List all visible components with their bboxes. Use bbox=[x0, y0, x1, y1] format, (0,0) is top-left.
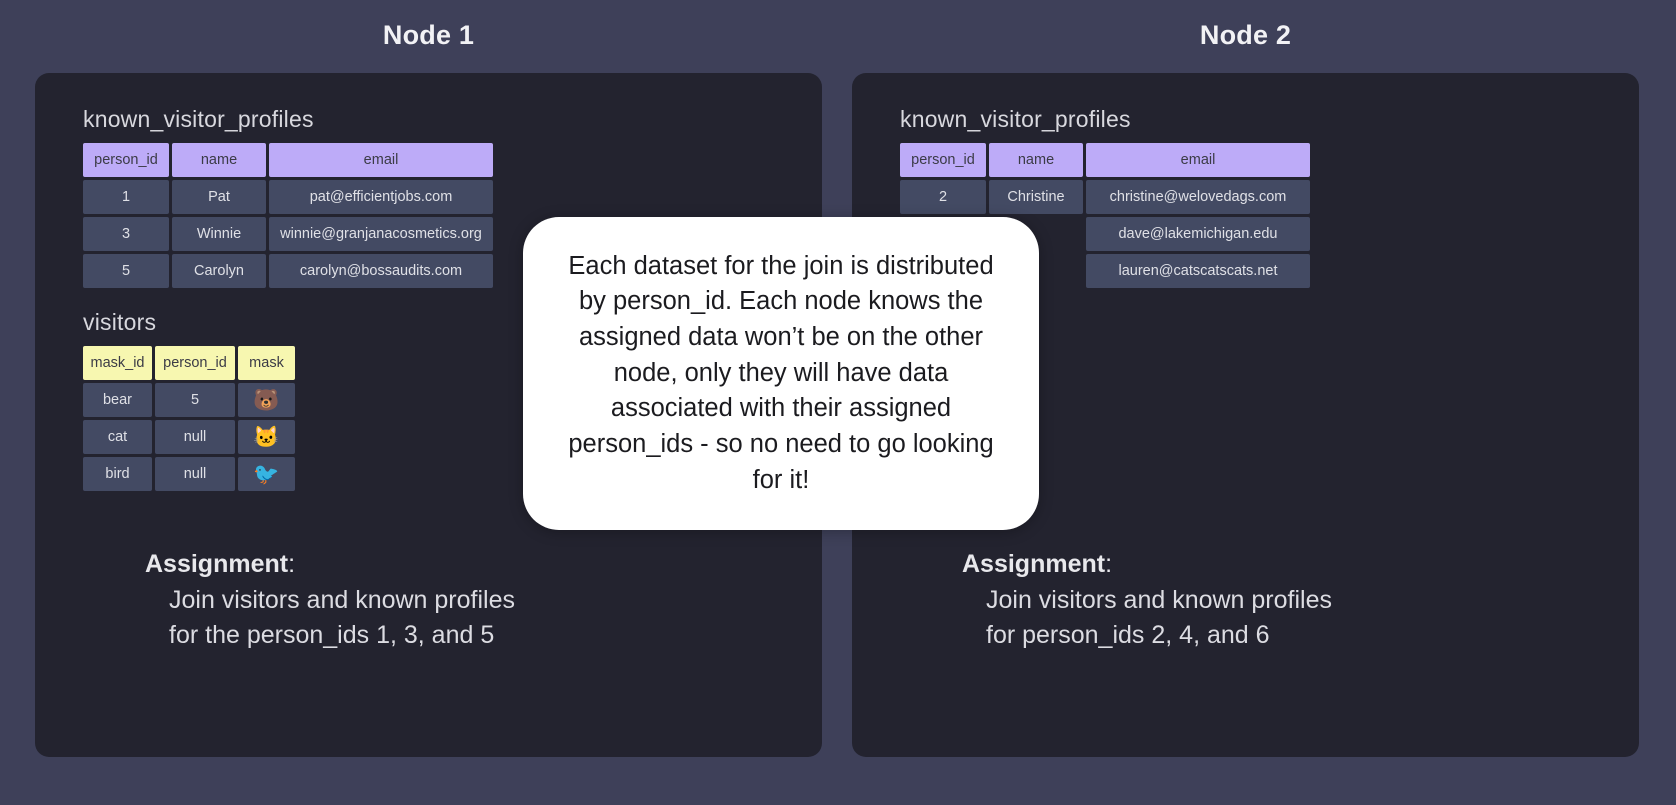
node-2-assignment-heading: Assignment: bbox=[962, 547, 1332, 583]
cell-person-id: 2 bbox=[900, 180, 986, 214]
column-header-person-id: person_id bbox=[155, 346, 235, 380]
node-1-profiles-table-title: known_visitor_profiles bbox=[83, 106, 792, 133]
node-1-visitors-table: mask_id person_id mask bear 5 🐻 cat null bbox=[80, 343, 298, 494]
cell-mask-id: cat bbox=[83, 420, 152, 454]
cell-mask-id: bear bbox=[83, 383, 152, 417]
cell-person-id: null bbox=[155, 420, 235, 454]
cell-name: Carolyn bbox=[172, 254, 266, 288]
table-header-row: person_id name email bbox=[900, 143, 1310, 177]
node-1-profiles-table: person_id name email 1 Pat pat@efficient… bbox=[80, 140, 496, 291]
cell-person-id: null bbox=[155, 457, 235, 491]
callout-text: Each dataset for the join is distributed… bbox=[563, 249, 999, 499]
cell-email: carolyn@bossaudits.com bbox=[269, 254, 493, 288]
column-header-person-id: person_id bbox=[900, 143, 986, 177]
callout-bubble: Each dataset for the join is distributed… bbox=[523, 217, 1039, 530]
table-row: bear 5 🐻 bbox=[83, 383, 295, 417]
column-header-name: name bbox=[172, 143, 266, 177]
bear-face-icon: 🐻 bbox=[238, 383, 295, 417]
table-header-row: mask_id person_id mask bbox=[83, 346, 295, 380]
cell-mask-id: bird bbox=[83, 457, 152, 491]
node-1-assignment: Assignment: Join visitors and known prof… bbox=[145, 547, 515, 654]
slide-canvas: Node 1 known_visitor_profiles person_id … bbox=[0, 0, 1676, 805]
cell-email: lauren@catscatscats.net bbox=[1086, 254, 1310, 288]
cell-person-id: 5 bbox=[155, 383, 235, 417]
column-header-email: email bbox=[269, 143, 493, 177]
cell-name: Pat bbox=[172, 180, 266, 214]
node-1-assignment-line-1: Join visitors and known profiles bbox=[145, 583, 515, 619]
table-row: 3 Winnie winnie@granjanacosmetics.org bbox=[83, 217, 493, 251]
assignment-label: Assignment bbox=[145, 550, 288, 578]
column-header-mask: mask bbox=[238, 346, 295, 380]
assignment-colon: : bbox=[1105, 550, 1112, 578]
cell-email: pat@efficientjobs.com bbox=[269, 180, 493, 214]
column-header-email: email bbox=[1086, 143, 1310, 177]
table-row: cat null 🐱 bbox=[83, 420, 295, 454]
table-header-row: person_id name email bbox=[83, 143, 493, 177]
node-2-assignment-line-1: Join visitors and known profiles bbox=[962, 583, 1332, 619]
cell-email: dave@lakemichigan.edu bbox=[1086, 217, 1310, 251]
column-header-mask-id: mask_id bbox=[83, 346, 152, 380]
table-row: 1 Pat pat@efficientjobs.com bbox=[83, 180, 493, 214]
cat-face-icon: 🐱 bbox=[238, 420, 295, 454]
node-2-assignment: Assignment: Join visitors and known prof… bbox=[962, 547, 1332, 654]
column-header-person-id: person_id bbox=[83, 143, 169, 177]
cell-email: christine@welovedags.com bbox=[1086, 180, 1310, 214]
node-2-title: Node 2 bbox=[852, 20, 1639, 51]
cell-person-id: 3 bbox=[83, 217, 169, 251]
cell-person-id: 5 bbox=[83, 254, 169, 288]
cell-name: Winnie bbox=[172, 217, 266, 251]
bird-face-icon: 🐦 bbox=[238, 457, 295, 491]
table-row: 5 Carolyn carolyn@bossaudits.com bbox=[83, 254, 493, 288]
node-2-profiles-table-title: known_visitor_profiles bbox=[900, 106, 1609, 133]
assignment-label: Assignment bbox=[962, 550, 1105, 578]
assignment-colon: : bbox=[288, 550, 295, 578]
node-1-assignment-line-2: for the person_ids 1, 3, and 5 bbox=[145, 618, 515, 654]
table-row: 2 Christine christine@welovedags.com bbox=[900, 180, 1310, 214]
node-2-assignment-line-2: for person_ids 2, 4, and 6 bbox=[962, 618, 1332, 654]
cell-email: winnie@granjanacosmetics.org bbox=[269, 217, 493, 251]
column-header-name: name bbox=[989, 143, 1083, 177]
cell-person-id: 1 bbox=[83, 180, 169, 214]
cell-name: Christine bbox=[989, 180, 1083, 214]
node-1-title: Node 1 bbox=[35, 20, 822, 51]
node-1-assignment-heading: Assignment: bbox=[145, 547, 515, 583]
table-row: bird null 🐦 bbox=[83, 457, 295, 491]
